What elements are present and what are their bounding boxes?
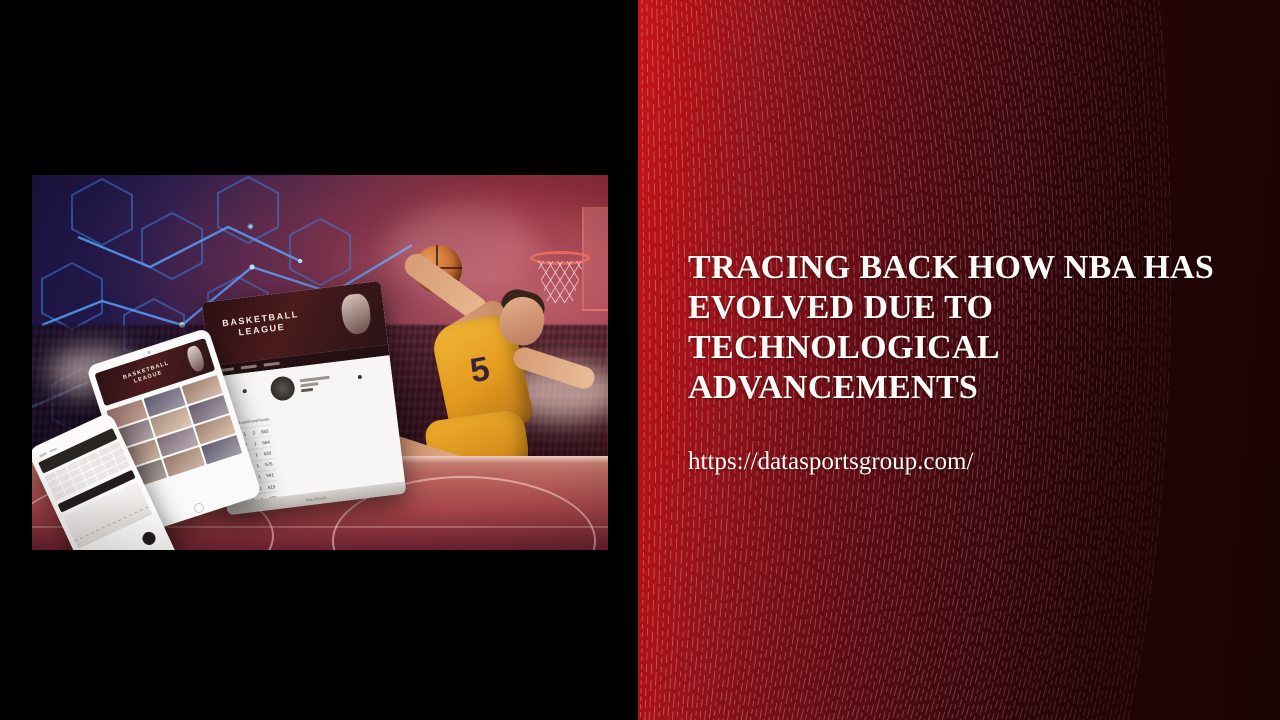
laptop-brand-text: BASKETBALL LEAGUE — [222, 309, 301, 340]
tablet-camera-icon — [147, 351, 151, 355]
slide-canvas: 5 BASKETBALL LEAGUE — [0, 0, 1280, 720]
carousel-prev-icon[interactable] — [242, 389, 246, 393]
laptop-footer-label: MacBook — [306, 495, 327, 502]
tablet-home-button[interactable] — [193, 502, 206, 515]
hero-player-silhouette — [185, 344, 206, 373]
phone-chart-area — [63, 482, 153, 549]
hero-player-silhouette — [340, 292, 373, 335]
player-jersey-number: 5 — [457, 348, 503, 393]
phone-floating-action-button[interactable] — [140, 530, 157, 547]
page-title: Tracing Back How NBA Has Evolved Due To … — [688, 248, 1228, 408]
nav-item-staff[interactable] — [241, 365, 257, 370]
team-meta — [300, 375, 332, 394]
title-panel: Tracing Back How NBA Has Evolved Due To … — [638, 0, 1280, 720]
team-header — [269, 371, 331, 402]
source-url: https://datasportsgroup.com/ — [688, 447, 1228, 477]
carousel-next-icon[interactable] — [358, 375, 362, 379]
glow-dot — [247, 223, 254, 230]
hero-photo: 5 BASKETBALL LEAGUE — [32, 175, 608, 550]
basketball-icon — [101, 375, 124, 398]
device-mockups: BASKETBALL LEAGUE — [62, 293, 382, 543]
tablet-brand-text: BASKETBALL LEAGUE — [122, 360, 172, 388]
nav-item-media[interactable] — [264, 362, 280, 367]
team-crest-icon — [269, 375, 296, 402]
